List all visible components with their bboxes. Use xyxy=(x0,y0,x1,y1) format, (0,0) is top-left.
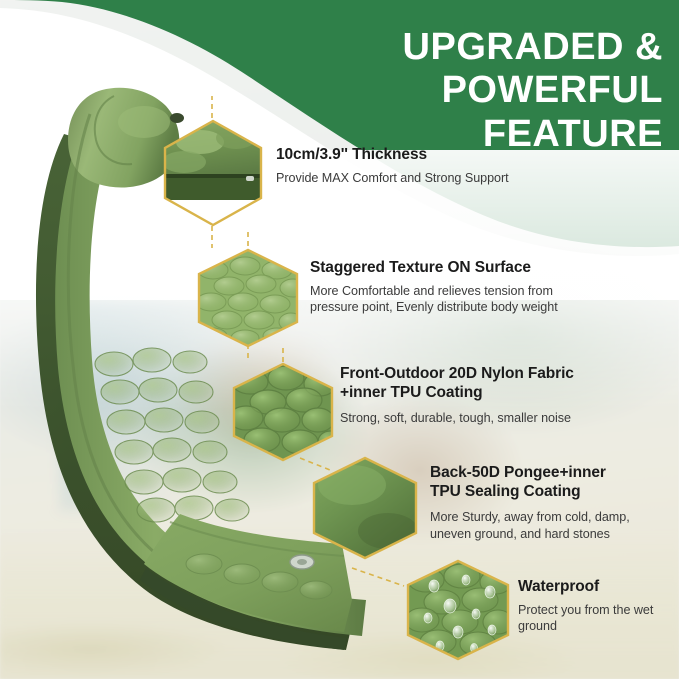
hex-thumb-waterproof xyxy=(404,558,512,662)
callout-thickness-title: 10cm/3.9'' Thickness xyxy=(276,146,576,165)
infographic-canvas: UPGRADED & POWERFUL FEATURE xyxy=(0,0,679,679)
callout-waterproof-sub: Protect you from the wet ground xyxy=(518,602,678,635)
callout-front-fabric-title: Front-Outdoor 20D Nylon Fabric +inner TP… xyxy=(340,365,650,402)
hex-thumb-staggered-texture xyxy=(195,248,301,348)
callout-thickness: 10cm/3.9'' Thickness Provide MAX Comfort… xyxy=(276,146,576,186)
hex-thumb-back-fabric xyxy=(310,455,420,561)
callout-waterproof-title: Waterproof xyxy=(518,578,678,597)
callout-back-fabric: Back-50D Pongee+inner TPU Sealing Coatin… xyxy=(430,464,670,543)
callout-waterproof: Waterproof Protect you from the wet grou… xyxy=(518,578,678,635)
callout-staggered-texture-sub: More Comfortable and relieves tension fr… xyxy=(310,283,620,316)
callout-back-fabric-title: Back-50D Pongee+inner TPU Sealing Coatin… xyxy=(430,464,670,501)
hex-thumb-front-fabric xyxy=(230,362,336,462)
callout-staggered-texture-title: Staggered Texture ON Surface xyxy=(310,259,620,278)
hex-thumb-thickness xyxy=(160,118,266,228)
callout-staggered-texture: Staggered Texture ON Surface More Comfor… xyxy=(310,259,620,316)
callout-back-fabric-sub: More Sturdy, away from cold, damp, uneve… xyxy=(430,509,670,542)
callout-thickness-sub: Provide MAX Comfort and Strong Support xyxy=(276,170,576,187)
callout-front-fabric-sub: Strong, soft, durable, tough, smaller no… xyxy=(340,410,650,427)
callout-front-fabric: Front-Outdoor 20D Nylon Fabric +inner TP… xyxy=(340,365,650,427)
